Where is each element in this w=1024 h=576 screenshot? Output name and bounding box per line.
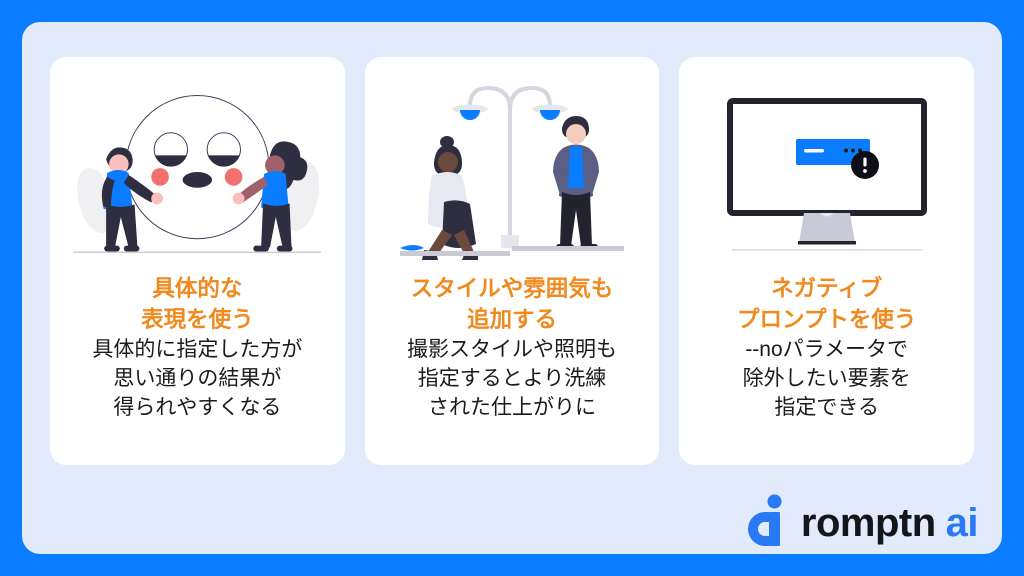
street-lamp-with-two-people-illustration bbox=[375, 75, 650, 271]
card-body: --noパラメータで 除外したい要素を 指定できる bbox=[743, 336, 911, 423]
slide-outer-frame: 具体的な 表現を使う 具体的に指定した方が 思い通りの結果が 得られやすくなる bbox=[0, 0, 1024, 576]
cards-row: 具体的な 表現を使う 具体的に指定した方が 思い通りの結果が 得られやすくなる bbox=[50, 57, 974, 465]
card-title: スタイルや雰囲気も 追加する bbox=[411, 273, 614, 335]
card-body: 撮影スタイルや照明も 指定するとより洗練 された仕上がりに bbox=[407, 336, 617, 423]
monitor-with-error-dialog-illustration bbox=[689, 75, 964, 271]
romptn-ai-logo: romptn ai bbox=[742, 492, 978, 554]
romptn-ai-logo-mark bbox=[742, 494, 788, 553]
two-people-with-big-face-circle-illustration bbox=[60, 75, 335, 271]
logo-name: romptn bbox=[801, 503, 936, 543]
logo-suffix: ai bbox=[946, 503, 978, 543]
card-title: 具体的な 表現を使う bbox=[141, 273, 254, 335]
card-title: ネガティブ プロンプトを使う bbox=[737, 273, 916, 335]
card-specific-expression: 具体的な 表現を使う 具体的に指定した方が 思い通りの結果が 得られやすくなる bbox=[50, 57, 345, 465]
logo-wordmark: romptn ai bbox=[801, 503, 978, 543]
card-negative-prompt: ネガティブ プロンプトを使う --noパラメータで 除外したい要素を 指定できる bbox=[679, 57, 974, 465]
card-body: 具体的に指定した方が 思い通りの結果が 得られやすくなる bbox=[92, 336, 302, 423]
card-style-and-mood: スタイルや雰囲気も 追加する 撮影スタイルや照明も 指定するとより洗練 された仕… bbox=[365, 57, 660, 465]
